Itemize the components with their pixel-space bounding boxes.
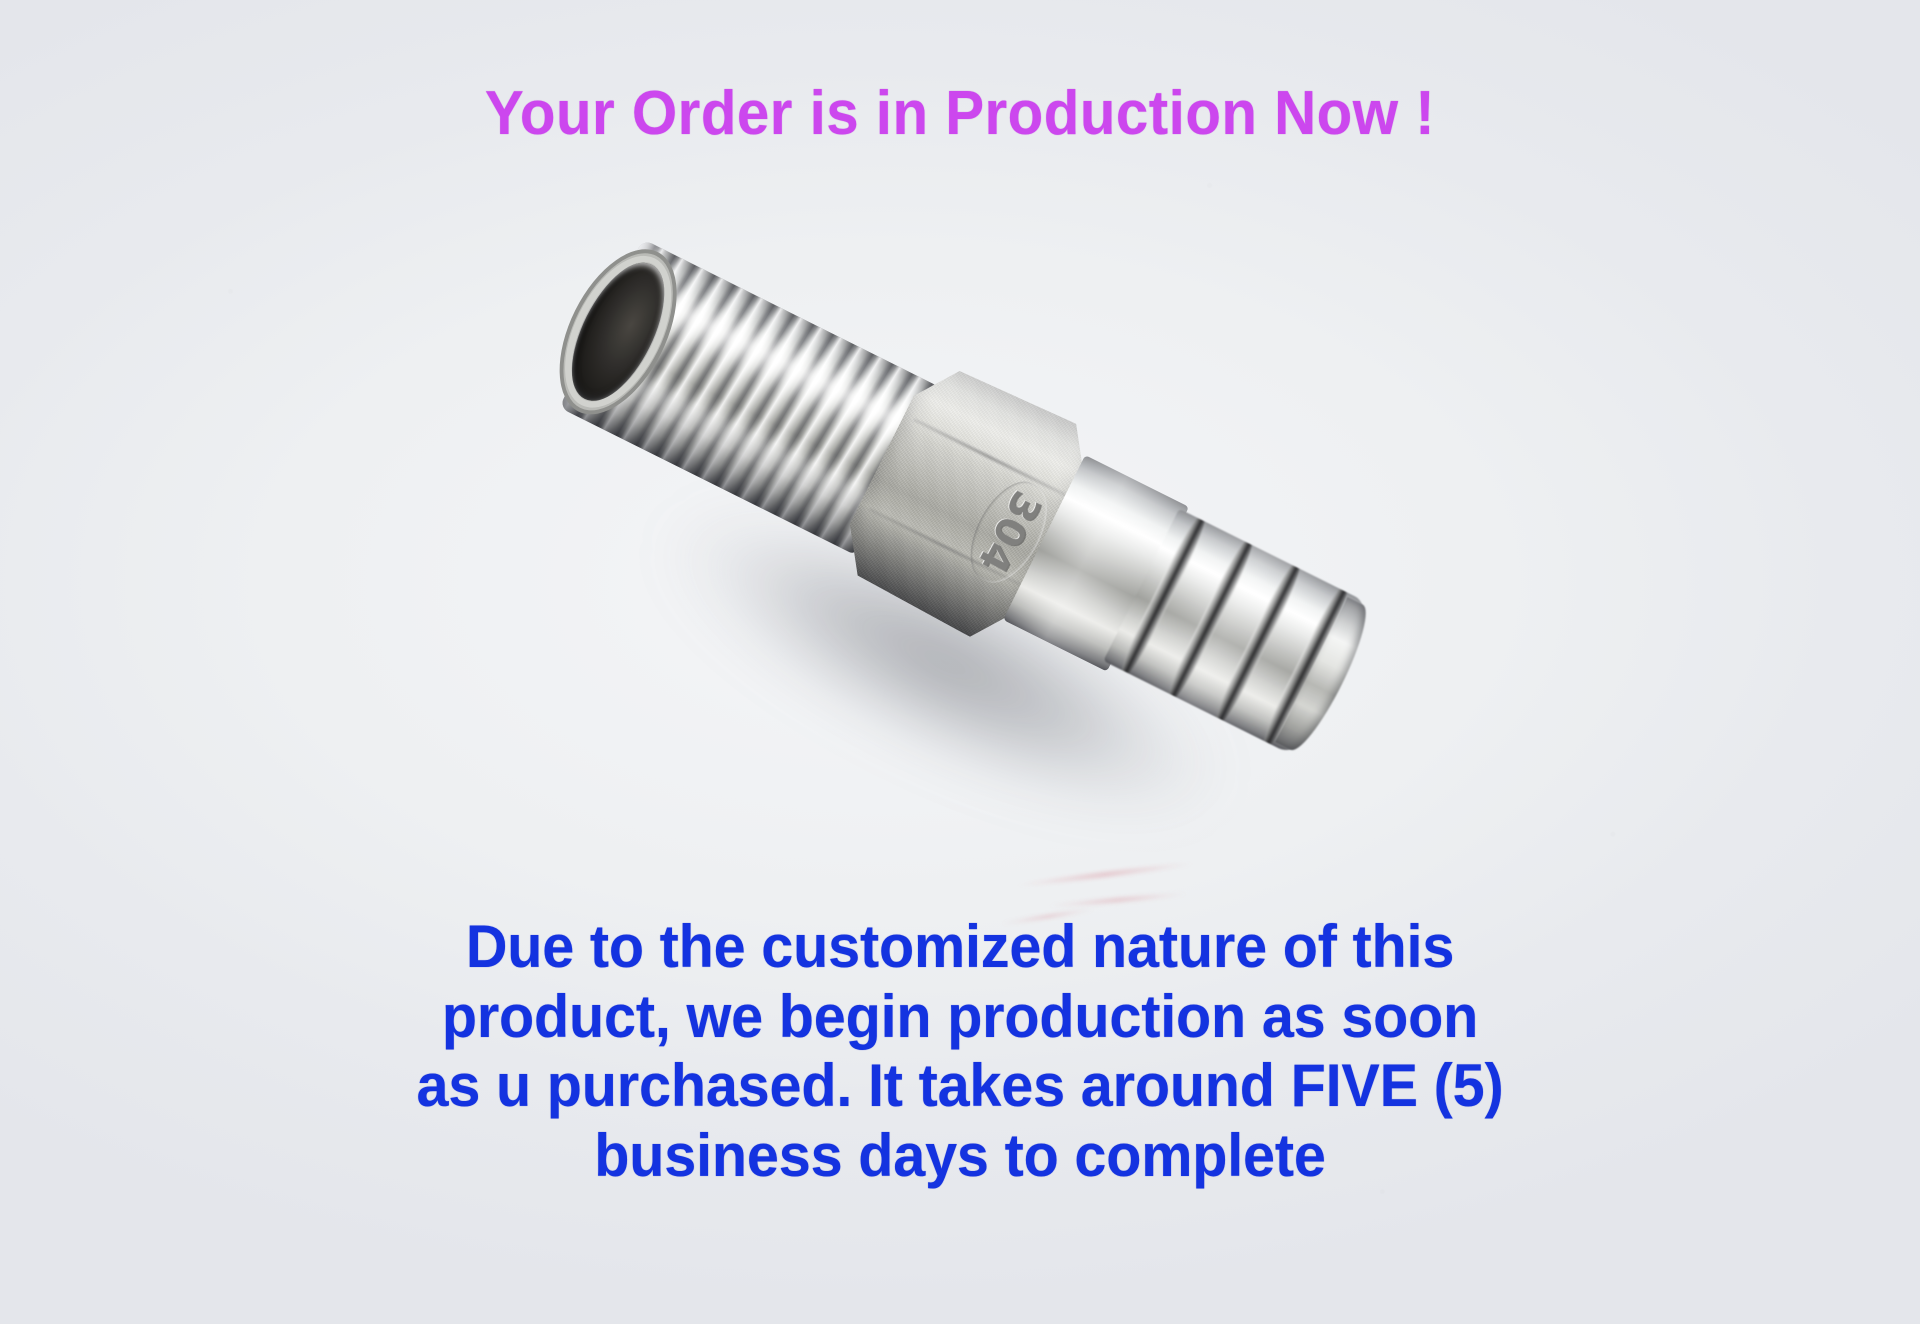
notice-canvas: Your Order is in Production Now ! 304 <box>0 0 1920 1324</box>
notice-line: product, we begin production as soon <box>38 982 1881 1052</box>
page-title: Your Order is in Production Now ! <box>58 78 1863 149</box>
notice-line: business days to complete <box>38 1121 1881 1191</box>
notice-body-text: Due to the customized nature of this pro… <box>0 912 1920 1190</box>
notice-line: as u purchased. It takes around FIVE (5) <box>38 1051 1881 1121</box>
notice-line: Due to the customized nature of this <box>38 912 1881 982</box>
